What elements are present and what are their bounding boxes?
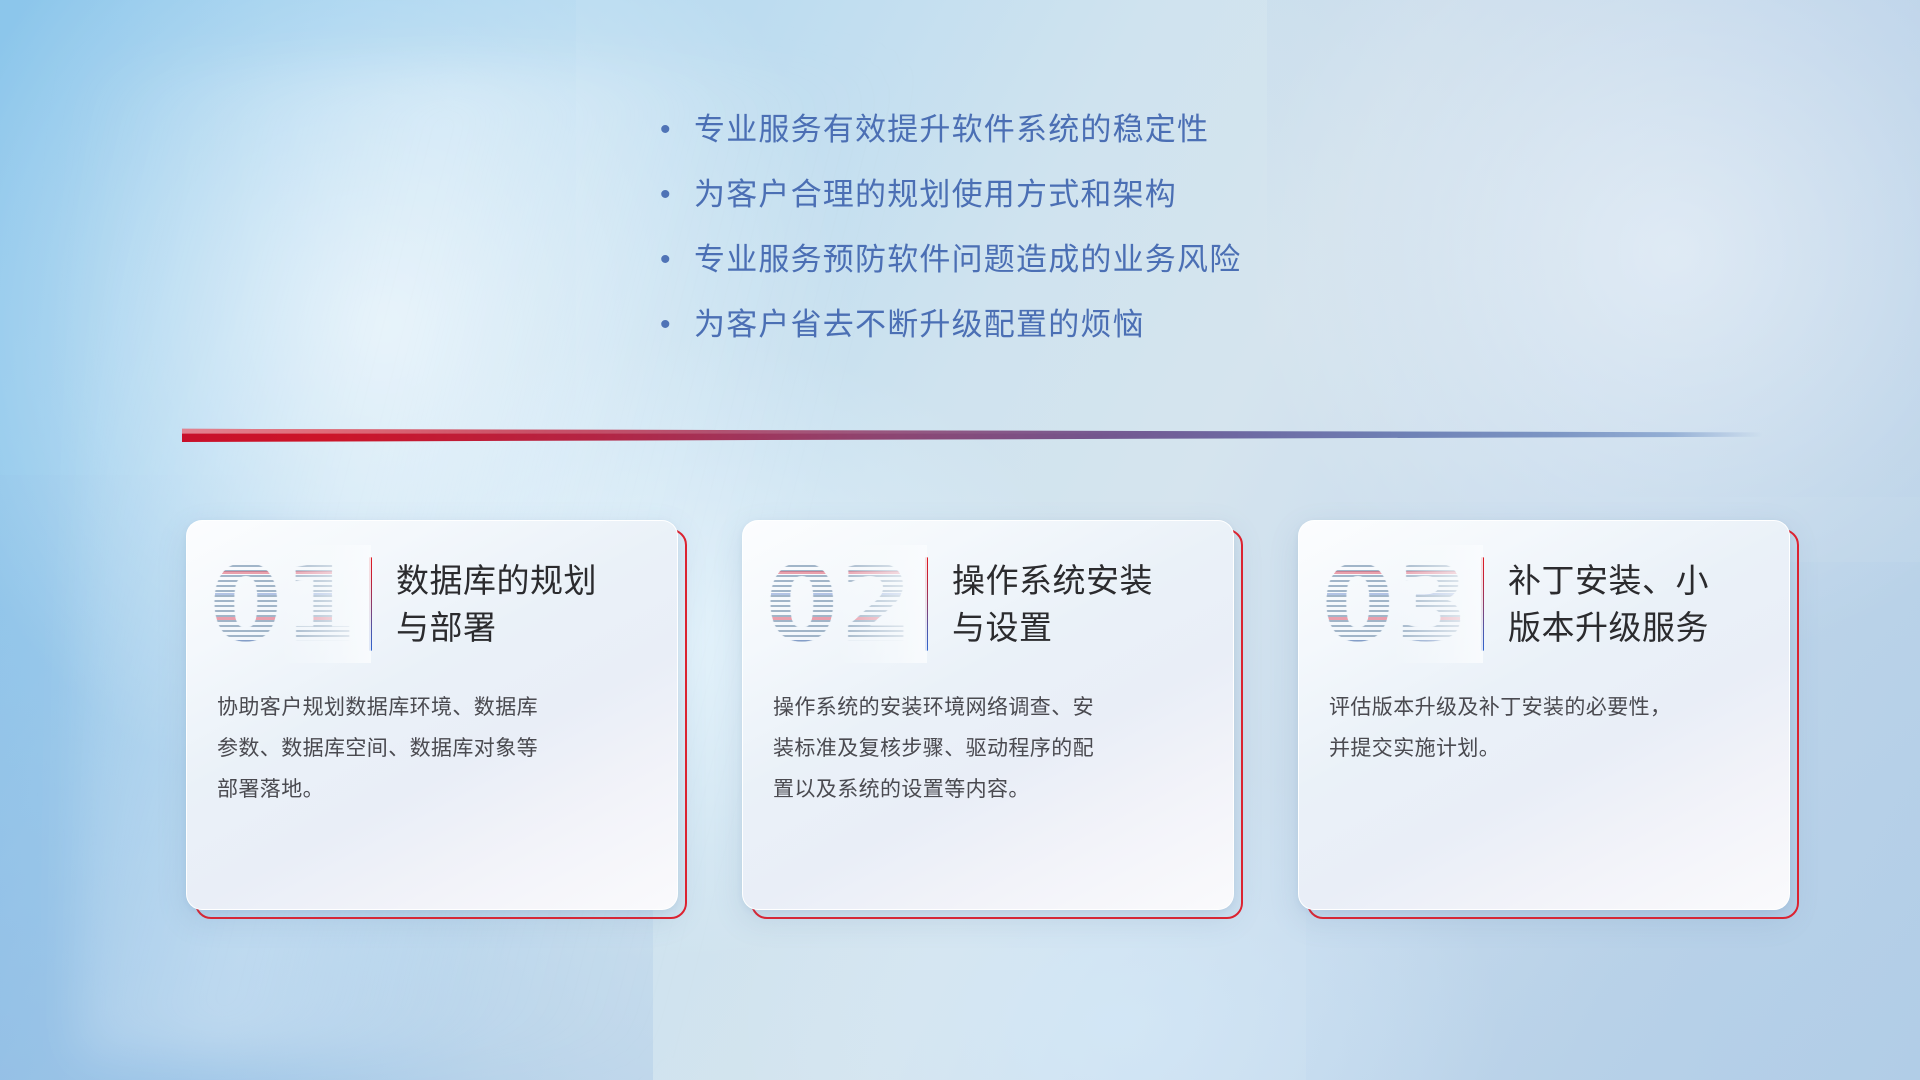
list-item: • 为客户省去不断升级配置的烦恼 <box>660 305 1480 370</box>
card-body-line-1: 操作系统的安装环境网络调查、安 <box>773 687 1203 728</box>
card-title-accent-bar <box>369 557 372 651</box>
bullet-marker-icon: • <box>660 110 694 150</box>
card-body-text: 协助客户规划数据库环境、数据库 参数、数据库空间、数据库对象等 部署落地。 <box>187 687 677 810</box>
service-card-01[interactable]: 01 01 01 01 数据库的规划 与部署 协助客户规划数据库环境、数据库 参… <box>186 520 678 910</box>
card-number-accent-blue: 01 <box>209 545 359 663</box>
card-header: 02 02 02 02 操作系统安装 与设置 <box>743 521 1233 687</box>
bullet-text: 为客户省去不断升级配置的烦恼 <box>694 305 1145 345</box>
card-title-line-2: 与部署 <box>396 604 597 651</box>
card-title-line-1: 数据库的规划 <box>396 557 597 604</box>
service-card-02[interactable]: 02 02 02 02 操作系统安装 与设置 操作系统的安装环境网络调查、安 装… <box>742 520 1234 910</box>
card-title-line-2: 与设置 <box>952 604 1153 651</box>
card-body-line-1: 协助客户规划数据库环境、数据库 <box>217 687 647 728</box>
card-title-line-2: 版本升级服务 <box>1508 604 1709 651</box>
card-surface: 03 03 03 03 补丁安装、小 版本升级服务 评估版本升级及补丁安装的必要… <box>1298 520 1790 910</box>
list-item: • 为客户合理的规划使用方式和架构 <box>660 175 1480 240</box>
card-body-line-2: 装标准及复核步骤、驱动程序的配 <box>773 728 1203 769</box>
bullet-marker-icon: • <box>660 305 694 345</box>
card-title-line-1: 补丁安装、小 <box>1508 557 1709 604</box>
card-title: 补丁安装、小 版本升级服务 <box>1508 557 1709 651</box>
bullet-text: 为客户合理的规划使用方式和架构 <box>694 175 1177 215</box>
card-number-graphic: 01 01 01 01 <box>209 545 359 663</box>
card-body-line-2: 并提交实施计划。 <box>1329 728 1759 769</box>
card-title-line-1: 操作系统安装 <box>952 557 1153 604</box>
bullet-marker-icon: • <box>660 240 694 280</box>
service-card-row: 01 01 01 01 数据库的规划 与部署 协助客户规划数据库环境、数据库 参… <box>186 520 1790 910</box>
card-number-accent-blue: 03 <box>1321 545 1471 663</box>
list-item: • 专业服务预防软件问题造成的业务风险 <box>660 240 1480 305</box>
card-body-line-3: 置以及系统的设置等内容。 <box>773 769 1203 810</box>
service-card-03[interactable]: 03 03 03 03 补丁安装、小 版本升级服务 评估版本升级及补丁安装的必要… <box>1298 520 1790 910</box>
benefits-bullet-list: • 专业服务有效提升软件系统的稳定性 • 为客户合理的规划使用方式和架构 • 专… <box>660 110 1480 370</box>
card-header: 03 03 03 03 补丁安装、小 版本升级服务 <box>1299 521 1789 687</box>
card-title: 数据库的规划 与部署 <box>396 557 597 651</box>
bullet-marker-icon: • <box>660 175 694 215</box>
card-surface: 01 01 01 01 数据库的规划 与部署 协助客户规划数据库环境、数据库 参… <box>186 520 678 910</box>
card-body-line-1: 评估版本升级及补丁安装的必要性， <box>1329 687 1759 728</box>
card-body-text: 评估版本升级及补丁安装的必要性， 并提交实施计划。 <box>1299 687 1789 769</box>
card-number-accent-blue: 02 <box>765 545 915 663</box>
card-number-graphic: 02 02 02 02 <box>765 545 915 663</box>
card-title-accent-bar <box>925 557 928 651</box>
card-surface: 02 02 02 02 操作系统安装 与设置 操作系统的安装环境网络调查、安 装… <box>742 520 1234 910</box>
card-title: 操作系统安装 与设置 <box>952 557 1153 651</box>
bullet-text: 专业服务预防软件问题造成的业务风险 <box>694 240 1241 280</box>
card-title-accent-bar <box>1481 557 1484 651</box>
card-body-line-3: 部署落地。 <box>217 769 647 810</box>
card-number-graphic: 03 03 03 03 <box>1321 545 1471 663</box>
section-divider <box>182 420 1762 442</box>
card-body-line-2: 参数、数据库空间、数据库对象等 <box>217 728 647 769</box>
card-header: 01 01 01 01 数据库的规划 与部署 <box>187 521 677 687</box>
card-body-text: 操作系统的安装环境网络调查、安 装标准及复核步骤、驱动程序的配 置以及系统的设置… <box>743 687 1233 810</box>
bullet-text: 专业服务有效提升软件系统的稳定性 <box>694 110 1209 150</box>
list-item: • 专业服务有效提升软件系统的稳定性 <box>660 110 1480 175</box>
